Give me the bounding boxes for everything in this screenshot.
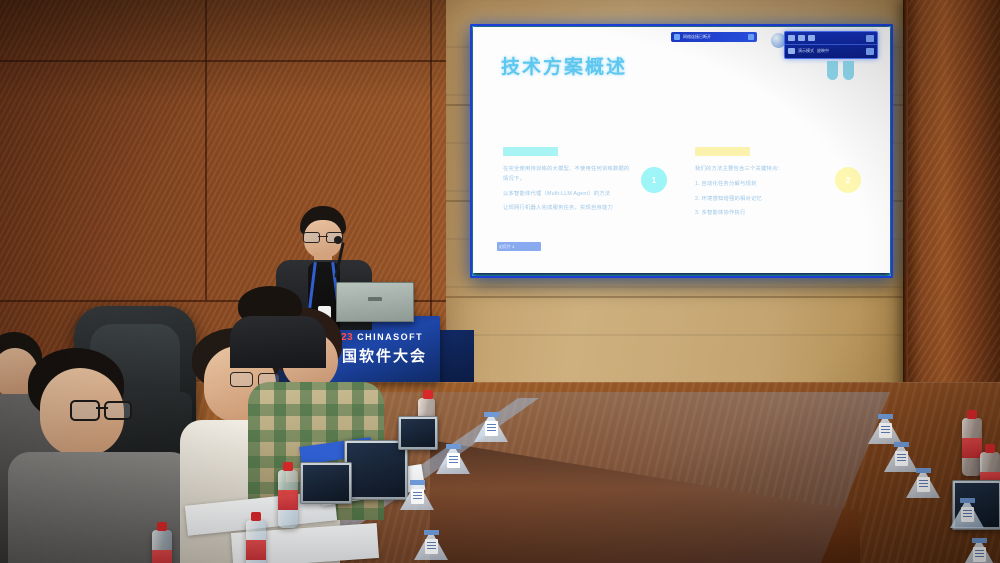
column-edge: [903, 0, 908, 430]
minimize-icon[interactable]: [788, 35, 795, 41]
slide-list-item: 3. 多智能体协作执行: [695, 209, 827, 219]
water-bottle: [152, 530, 172, 563]
taskbar-text: 网络连接已断开: [683, 34, 745, 40]
slide-list-item: 1. 自动化任务分解与规划: [695, 180, 827, 190]
presentation-icon[interactable]: [788, 48, 795, 54]
name-card-tent: [400, 478, 434, 510]
torso: [230, 316, 326, 368]
water-bottle: [278, 470, 298, 528]
volume-icon[interactable]: [866, 48, 874, 55]
water-bottle: [962, 418, 982, 476]
quote-glyph: [843, 61, 854, 80]
window-status-row: 演示模式 放映中: [785, 45, 877, 57]
accent-chip-yellow: [695, 147, 750, 156]
window-extra-icon[interactable]: [866, 35, 874, 42]
slide-column-left: 在完全使用待训练的大模型、不使用任何训练数据的情况下， 以多智能体代理（Mult…: [503, 165, 631, 219]
taskbar-notification[interactable]: 网络连接已断开: [671, 32, 757, 42]
audience-member-back: [238, 286, 316, 356]
slide-paragraph: 以多智能体代理（Multi-LLM Agent）的方法: [503, 190, 631, 200]
name-card-tent: [414, 528, 448, 560]
name-card-tent: [436, 442, 470, 474]
quote-mark-decoration: [827, 61, 854, 80]
close-icon[interactable]: [808, 35, 815, 41]
name-card-tent: [474, 410, 508, 442]
presentation-display[interactable]: 技术方案概述 在完全使用待训练的大模型、不使用任何训练数据的情况下， 以多智能体…: [470, 24, 893, 278]
podium-right-wing: [436, 330, 474, 382]
window-control-bar[interactable]: 演示模式 放映中: [784, 31, 878, 59]
window-label-right: 放映中: [817, 48, 829, 54]
audience-laptop[interactable]: [398, 416, 438, 450]
slide-footer-badge: 幻灯片 4: [497, 242, 541, 251]
slide-column-right: 我们的方法主要包含三个关键特点： 1. 自动化任务分解与规划 2. 环境感知增强…: [695, 165, 827, 224]
name-card-tent: [950, 496, 984, 528]
name-card-tent: [906, 466, 940, 498]
speaker-icon: [748, 34, 754, 40]
conference-room-scene: 技术方案概述 在完全使用待训练的大模型、不使用任何训练数据的情况下， 以多智能体…: [0, 0, 1000, 563]
slide-badge-two: 2: [835, 167, 861, 193]
recess-seam: [446, 296, 906, 298]
maximize-icon[interactable]: [798, 35, 805, 41]
slide-badge-one: 1: [641, 167, 667, 193]
slide-paragraph: 在完全使用待训练的大模型、不使用任何训练数据的情况下，: [503, 165, 631, 185]
slide-canvas: 技术方案概述 在完全使用待训练的大模型、不使用任何训练数据的情况下， 以多智能体…: [473, 27, 890, 273]
slide-title: 技术方案概述: [501, 52, 627, 79]
window-buttons-row[interactable]: [785, 32, 877, 45]
slide-paragraph: 让现网行机器人完成服务任务，实现自身能力: [503, 204, 631, 214]
network-icon: [674, 34, 680, 40]
wall-seam: [205, 0, 207, 300]
glasses: [70, 400, 132, 417]
slide-intro: 我们的方法主要包含三个关键特点：: [695, 165, 827, 175]
slide-list-item: 2. 环境感知增强的相对记忆: [695, 195, 827, 205]
accent-chip-cyan: [503, 147, 558, 156]
water-bottle: [246, 520, 266, 563]
wood-column-right: [904, 0, 1000, 430]
name-card-tent: [962, 536, 996, 563]
quote-glyph: [827, 61, 838, 80]
window-label-left: 演示模式: [798, 48, 814, 54]
slide-footer-label: 幻灯片 4: [499, 244, 514, 250]
audience-laptop[interactable]: [300, 462, 352, 504]
